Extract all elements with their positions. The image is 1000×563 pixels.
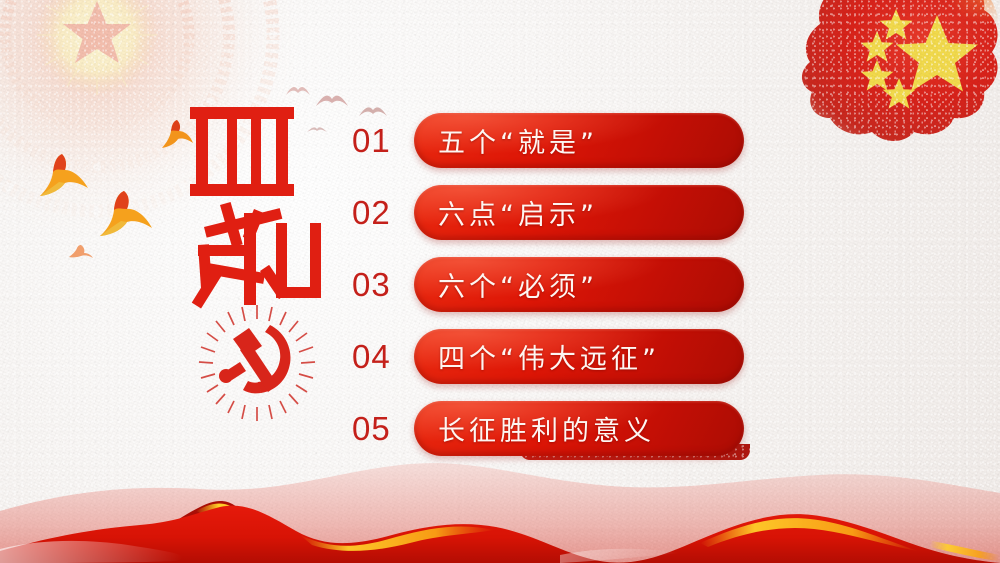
toc-pill-01[interactable]: 五个“就是”	[414, 113, 744, 168]
china-flag-watercolor-decoration	[776, 0, 1000, 176]
toc-pill-05[interactable]: 长征胜利的意义	[414, 401, 744, 456]
hammer-knob	[219, 369, 233, 383]
bird-grey-icon-1	[285, 84, 311, 98]
bird-orange-icon-1	[36, 150, 92, 200]
toc-pill-03[interactable]: 六个“必须”	[414, 257, 744, 312]
toc-label-04: 四个“伟大远征”	[414, 337, 660, 376]
page-title-heading	[178, 104, 348, 309]
hammer-and-sickle-emblem	[196, 303, 318, 425]
toc-label-03: 六个“必须”	[414, 265, 598, 304]
toc-number-05: 05	[352, 412, 414, 445]
slide-canvas: 01 五个“就是” 02 六点“启示” 03 六个“必须” 04 四个“伟大远征…	[0, 0, 1000, 563]
toc-pill-02[interactable]: 六点“启示”	[414, 185, 744, 240]
heading-char-lu	[184, 201, 322, 309]
toc-item-05[interactable]: 05 长征胜利的意义	[352, 400, 744, 456]
toc-number-03: 03	[352, 268, 414, 301]
toc-item-03[interactable]: 03 六个“必须”	[352, 256, 744, 312]
toc-number-04: 04	[352, 340, 414, 373]
bird-orange-icon-4	[68, 243, 94, 259]
bird-orange-icon-2	[96, 188, 154, 240]
toc-item-04[interactable]: 04 四个“伟大远征”	[352, 328, 744, 384]
toc-label-02: 六点“启示”	[414, 193, 598, 232]
toc-number-02: 02	[352, 196, 414, 229]
toc-number-01: 01	[352, 124, 414, 157]
heading-char-mu	[178, 104, 306, 197]
toc-label-05: 长征胜利的意义	[414, 409, 655, 448]
toc-item-01[interactable]: 01 五个“就是”	[352, 112, 744, 168]
toc-list: 01 五个“就是” 02 六点“启示” 03 六个“必须” 04 四个“伟大远征…	[352, 112, 744, 456]
toc-item-02[interactable]: 02 六点“启示”	[352, 184, 744, 240]
toc-label-01: 五个“就是”	[414, 121, 598, 160]
toc-pill-04[interactable]: 四个“伟大远征”	[414, 329, 744, 384]
emblem-symbol	[219, 325, 290, 393]
sickle-handle	[243, 381, 261, 393]
